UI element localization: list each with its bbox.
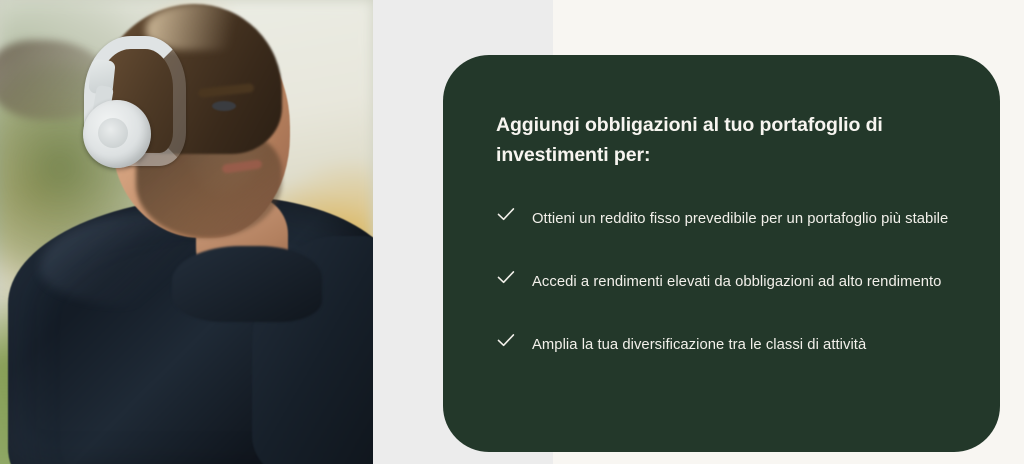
list-item: Ottieni un reddito fisso prevedibile per… bbox=[496, 203, 966, 236]
list-item-label: Accedi a rendimenti elevati da obbligazi… bbox=[532, 266, 941, 299]
benefits-list: Ottieni un reddito fisso prevedibile per… bbox=[496, 203, 966, 362]
page-root: Aggiungi obbligazioni al tuo portafoglio… bbox=[0, 0, 1024, 464]
check-icon bbox=[496, 329, 516, 351]
list-item-label: Amplia la tua diversificazione tra le cl… bbox=[532, 329, 866, 362]
photo-person-collar bbox=[172, 246, 322, 322]
photo-headphones-earcup-inner bbox=[98, 118, 128, 148]
benefits-heading: Aggiungi obbligazioni al tuo portafoglio… bbox=[496, 110, 926, 170]
photo-person-eye bbox=[212, 101, 236, 111]
check-icon bbox=[496, 266, 516, 288]
list-item: Accedi a rendimenti elevati da obbligazi… bbox=[496, 266, 966, 299]
list-item-label: Ottieni un reddito fisso prevedibile per… bbox=[532, 203, 948, 236]
benefits-card-content: Aggiungi obbligazioni al tuo portafoglio… bbox=[496, 110, 966, 362]
check-icon bbox=[496, 203, 516, 225]
benefits-card: Aggiungi obbligazioni al tuo portafoglio… bbox=[443, 55, 1000, 452]
list-item: Amplia la tua diversificazione tra le cl… bbox=[496, 329, 966, 362]
hero-photo bbox=[0, 0, 373, 464]
